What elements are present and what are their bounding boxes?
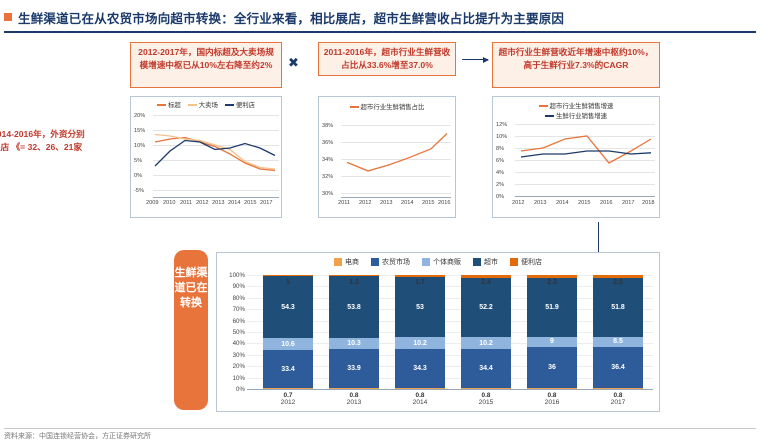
x-tick: 2013 (329, 399, 379, 406)
x-tick: 2011 (180, 200, 192, 206)
callout-box-3: 超市行业生鲜营收近年增速中枢约10%，高于生鲜行业7.3%的CAGR (492, 42, 660, 88)
bar-column: 36 9 51.9 (527, 275, 577, 389)
segment-value: 10.3 (329, 338, 379, 350)
y-tick: 60% (221, 318, 245, 325)
segment-value: 9 (527, 337, 577, 347)
callout-box-2: 2011-2016年，超市行业生鲜营收占比从33.6%增至37.0% (318, 42, 456, 76)
chart1-lines (131, 97, 281, 217)
title-bar: 生鲜渠道已在从农贸市场向超市转换：全行业来看，相比展店，超市生鲜营收占比提升为主… (0, 6, 760, 30)
bottom-value: 0.8 (329, 391, 379, 399)
x-tick: 2013 (380, 200, 392, 206)
callout-box-1: 2012-2017年，国内标超及大卖场规模增速中枢已从10%左右降至约2% (130, 42, 282, 88)
segment-value: 10.2 (461, 337, 511, 349)
footer-divider (4, 428, 756, 429)
bottom-value: 0.8 (461, 391, 511, 399)
legend-item: 农贸市场 (371, 257, 410, 267)
segment-value: 36 (527, 347, 577, 388)
x-tick: 2017 (260, 200, 272, 206)
x-tick: 2016 (438, 200, 450, 206)
segment-value: 33.4 (263, 350, 313, 388)
x-tick: 2018 (642, 200, 654, 206)
segment-value: 34.3 (395, 349, 445, 388)
x-tick: 2009 (146, 200, 158, 206)
highlight-label: 生鲜渠道已在转换 (174, 250, 208, 410)
x-tick: 2016 (527, 399, 577, 406)
top-value: 1.7 (395, 277, 445, 287)
arrow-right-icon (462, 59, 488, 60)
bar-column: 34.3 10.2 53 (395, 275, 445, 389)
segment-value: 10.6 (263, 338, 313, 350)
x-tick: 2012 (512, 200, 524, 206)
x-tick: 2015 (244, 200, 256, 206)
chart3-lines (493, 97, 659, 217)
chart4-legend: 电商 农贸市场 个体商贩 超市 便利店 (217, 257, 659, 267)
bar-column: 33.9 10.3 53.8 (329, 275, 379, 389)
y-tick: 30% (221, 352, 245, 359)
legend-item: 超市 (473, 257, 498, 267)
segment-value: 34.4 (461, 349, 511, 388)
chart-panel-1: 标超 大卖场 便利店 20% 15% 10% 5% 0% -5% 2009 20… (130, 96, 282, 218)
x-tick: 2016 (600, 200, 612, 206)
left-note: 2014-2016年，外资分别关店 《= 32、26、21家 (0, 128, 92, 154)
y-tick: 80% (221, 295, 245, 302)
y-tick: 10% (221, 375, 245, 382)
top-value: 2.5 (593, 277, 643, 287)
x-tick: 2015 (422, 200, 434, 206)
x-tick: 2017 (622, 200, 634, 206)
x-tick: 2014 (556, 200, 568, 206)
x-tick: 2012 (263, 399, 313, 406)
legend-item: 个体商贩 (422, 257, 461, 267)
x-tick: 2014 (401, 200, 413, 206)
x-tick: 2010 (163, 200, 175, 206)
y-tick: 90% (221, 283, 245, 290)
chart2-line (319, 97, 455, 217)
x-tick: 2013 (534, 200, 546, 206)
bottom-value: 0.8 (527, 391, 577, 399)
top-value: 2.3 (527, 277, 577, 287)
page-title: 生鲜渠道已在从农贸市场向超市转换：全行业来看，相比展店，超市生鲜营收占比提升为主… (18, 8, 564, 27)
x-tick: 2014 (228, 200, 240, 206)
footnote: 资料来源：中国连锁经营协会，方正证券研究所 (4, 431, 151, 441)
bar-column: 36.4 8.5 51.8 (593, 275, 643, 389)
segment-value: 36.4 (593, 347, 643, 389)
legend-item: 便利店 (510, 257, 542, 267)
legend-item: 电商 (334, 257, 359, 267)
chart-panel-4: 电商 农贸市场 个体商贩 超市 便利店 100% 90% 80% 70% 60%… (216, 252, 660, 412)
y-tick: 40% (221, 340, 245, 347)
segment-value: 8.5 (593, 337, 643, 347)
top-value: 1.3 (329, 277, 379, 287)
chart-panel-2: 超市行业生鲜销售占比 38% 36% 34% 32% 30% 2011 2012… (318, 96, 456, 218)
title-divider (4, 31, 756, 33)
y-tick: 20% (221, 363, 245, 370)
x-tick: 2011 (338, 200, 350, 206)
bottom-value: 0.8 (395, 391, 445, 399)
segment-value: 33.9 (329, 349, 379, 388)
y-tick: 0% (221, 386, 245, 393)
bottom-value: 0.8 (593, 391, 643, 399)
x-tick: 2013 (212, 200, 224, 206)
title-bullet-icon (4, 13, 12, 21)
bar-column: 34.4 10.2 52.2 (461, 275, 511, 389)
y-tick: 50% (221, 329, 245, 336)
x-tick: 2017 (593, 399, 643, 406)
bar-column: 33.4 10.6 54.3 (263, 275, 313, 389)
y-tick: 100% (221, 272, 245, 279)
x-tick: 2012 (196, 200, 208, 206)
top-value: 2.4 (461, 277, 511, 287)
x-tick: 2014 (395, 399, 445, 406)
x-tick: 2015 (578, 200, 590, 206)
chart-panel-3: 超市行业生鲜销售增速 生鲜行业销售增速 12% 10% 8% 6% 4% 2% … (492, 96, 660, 218)
x-tick: 2015 (461, 399, 511, 406)
segment-value: 10.2 (395, 337, 445, 349)
bottom-value: 0.7 (263, 391, 313, 399)
x-tick: 2012 (359, 200, 371, 206)
top-value: 1 (263, 277, 313, 287)
multiply-icon: ✖ (288, 55, 299, 71)
slide-root: 生鲜渠道已在从农贸市场向超市转换：全行业来看，相比展店，超市生鲜营收占比提升为主… (0, 0, 760, 446)
y-tick: 70% (221, 306, 245, 313)
